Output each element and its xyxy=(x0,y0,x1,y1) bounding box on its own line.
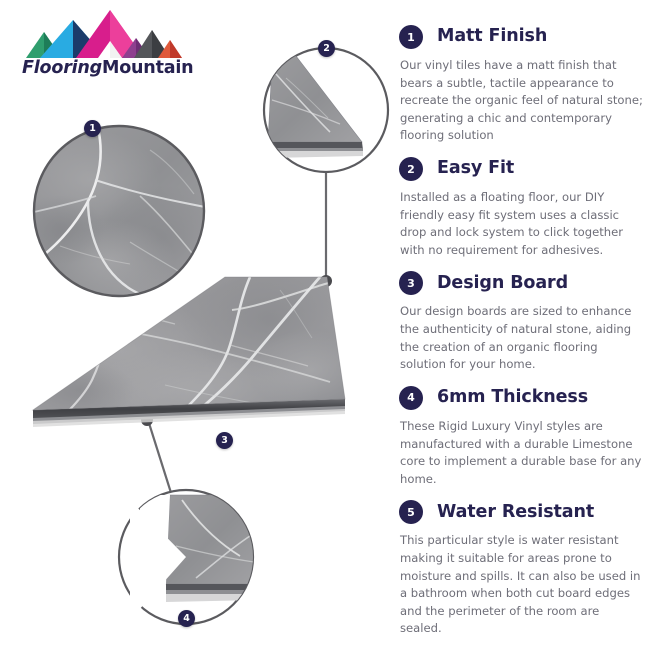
infographic-page: FlooringMountain xyxy=(0,0,650,650)
feature-title-2: Easy Fit xyxy=(437,159,514,178)
connector-4 xyxy=(141,414,172,496)
feature-body-1: Our vinyl tiles have a matt finish that … xyxy=(399,57,643,145)
connector-2 xyxy=(320,172,332,287)
feature-body-2: Installed as a floating floor, our DIY f… xyxy=(399,189,643,259)
callout-circle-2 xyxy=(264,48,388,172)
feature-item-matt-finish: 1 Matt Finish Our vinyl tiles have a mat… xyxy=(399,24,644,145)
feature-title-4: 6mm Thickness xyxy=(437,388,588,407)
feature-title-3: Design Board xyxy=(437,274,568,293)
feature-title-1: Matt Finish xyxy=(437,27,547,46)
feature-badge-3: 3 xyxy=(399,271,423,295)
feature-header: 1 Matt Finish xyxy=(399,24,644,50)
callout-badge-4[interactable]: 4 xyxy=(178,610,195,627)
feature-item-design-board: 3 Design Board Our design boards are siz… xyxy=(399,270,644,373)
callout-badge-1[interactable]: 1 xyxy=(84,120,101,137)
callout-circle-4 xyxy=(119,490,258,624)
feature-title-5: Water Resistant xyxy=(437,503,594,522)
feature-badge-2: 2 xyxy=(399,157,423,181)
feature-item-6mm-thickness: 4 6mm Thickness These Rigid Luxury Vinyl… xyxy=(399,385,644,488)
callout-badge-3[interactable]: 3 xyxy=(216,432,233,449)
feature-badge-4: 4 xyxy=(399,386,423,410)
callout-circle-1 xyxy=(15,126,230,300)
feature-badge-5: 5 xyxy=(399,500,423,524)
feature-badge-1: 1 xyxy=(399,25,423,49)
feature-header: 4 6mm Thickness xyxy=(399,385,644,411)
feature-item-water-resistant: 5 Water Resistant This particular style … xyxy=(399,499,644,638)
feature-header: 5 Water Resistant xyxy=(399,499,644,525)
feature-body-5: This particular style is water resistant… xyxy=(399,532,643,638)
feature-body-3: Our design boards are sized to enhance t… xyxy=(399,303,643,373)
feature-item-easy-fit: 2 Easy Fit Installed as a floating floor… xyxy=(399,156,644,259)
feature-header: 3 Design Board xyxy=(399,270,644,296)
feature-list: 1 Matt Finish Our vinyl tiles have a mat… xyxy=(399,24,644,649)
product-illustration: 1 2 3 4 xyxy=(0,0,400,650)
feature-body-4: These Rigid Luxury Vinyl styles are manu… xyxy=(399,418,643,488)
callout-badge-2[interactable]: 2 xyxy=(318,40,335,57)
feature-header: 2 Easy Fit xyxy=(399,156,644,182)
